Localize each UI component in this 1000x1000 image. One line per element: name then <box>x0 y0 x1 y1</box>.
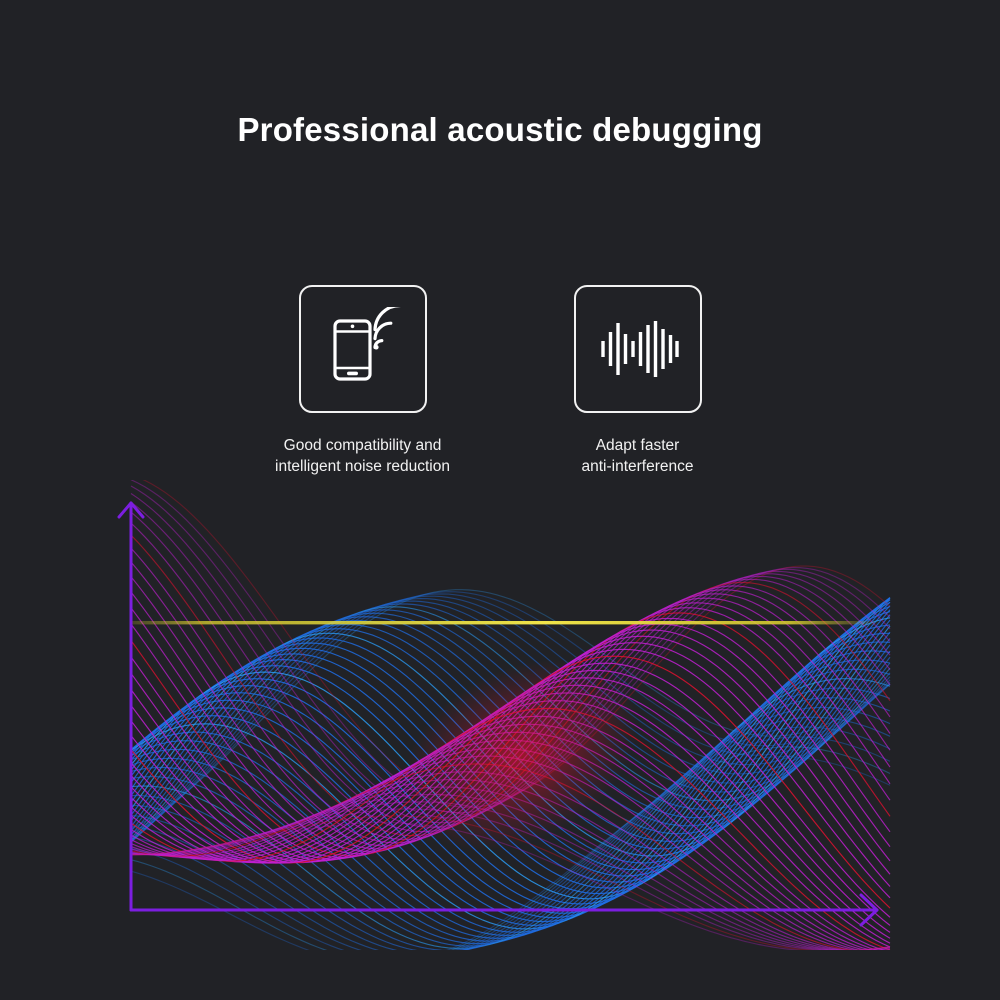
zero-baseline <box>131 621 880 624</box>
phone-wireless-signal-icon <box>299 285 427 413</box>
page-root: Professional acoustic debugging <box>0 0 1000 1000</box>
page-title: Professional acoustic debugging <box>0 108 1000 152</box>
feature-compatibility: Good compatibility and intelligent noise… <box>258 285 468 477</box>
feature-caption: Good compatibility and intelligent noise… <box>275 435 450 477</box>
feature-row: Good compatibility and intelligent noise… <box>0 285 1000 477</box>
audio-waveform-bars-icon <box>574 285 702 413</box>
acoustic-wave-chart <box>0 480 1000 950</box>
feature-caption: Adapt faster anti-interference <box>581 435 693 477</box>
feature-anti-interference: Adapt faster anti-interference <box>533 285 743 477</box>
